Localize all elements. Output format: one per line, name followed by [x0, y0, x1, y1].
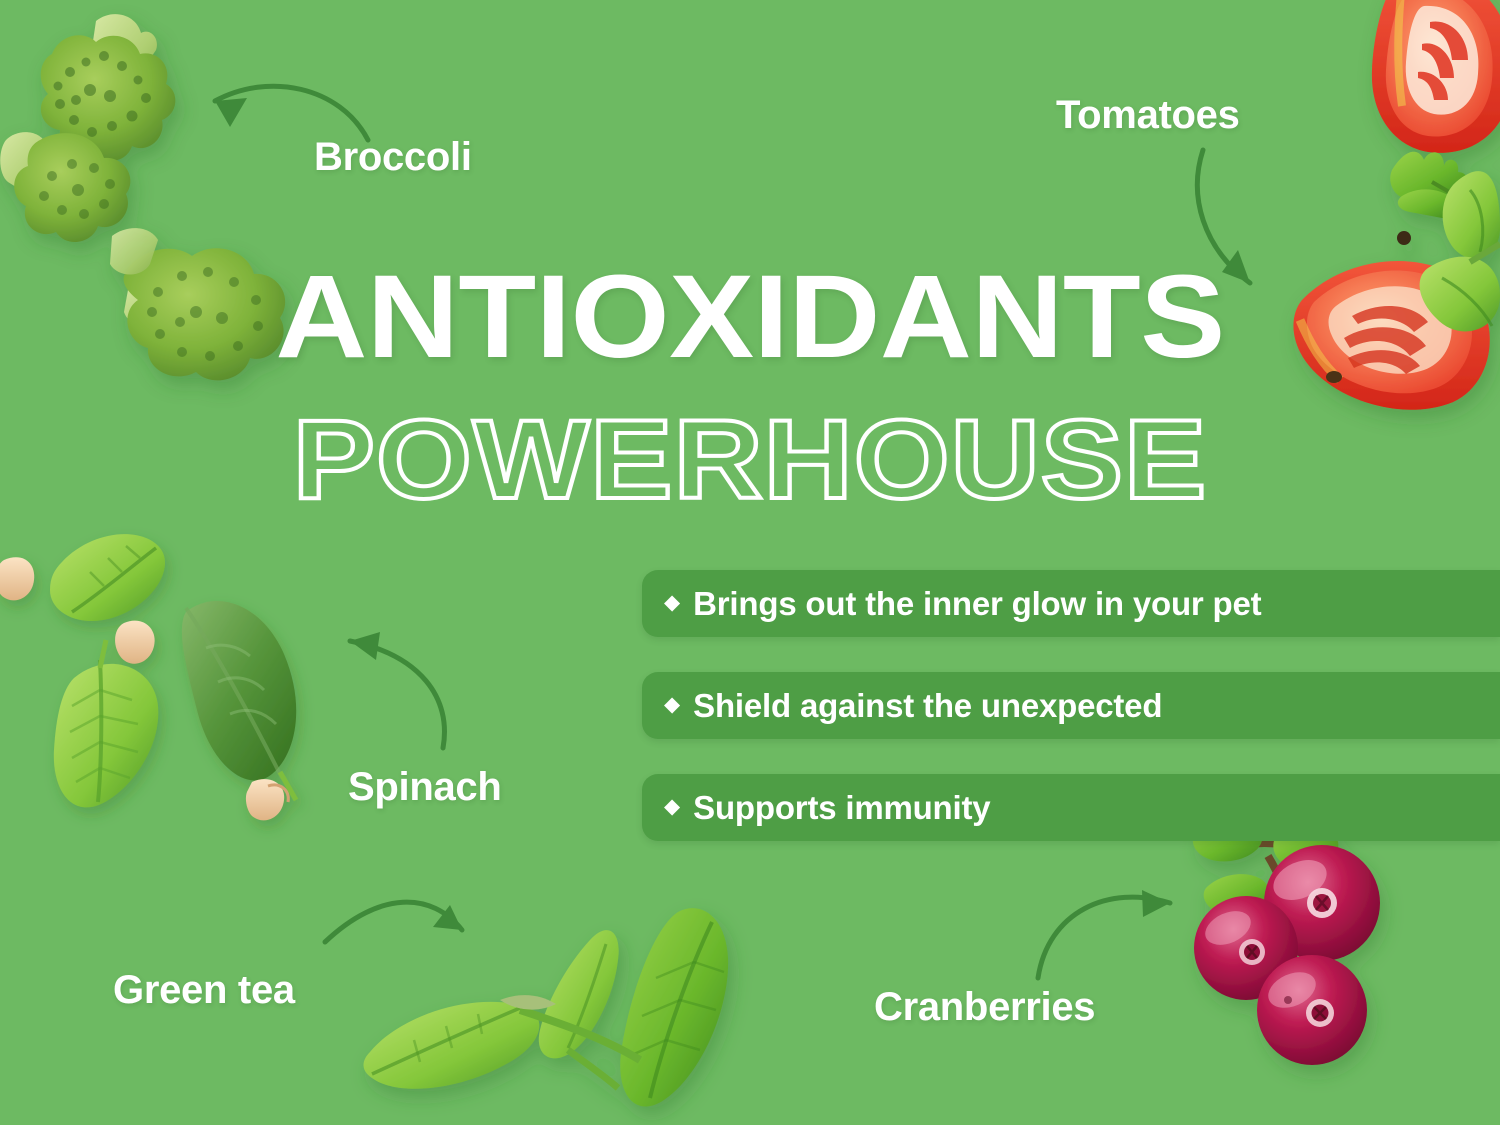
benefit-bar-3: ◆ Supports immunity	[642, 774, 1500, 841]
page-title-line1: ANTIOXIDANTS	[0, 258, 1500, 376]
benefit-bar-1: ◆ Brings out the inner glow in your pet	[642, 570, 1500, 637]
ingredient-label-tomatoes: Tomatoes	[1056, 93, 1240, 138]
diamond-bullet-icon: ◆	[664, 796, 680, 817]
broccoli-arrow-icon	[215, 86, 368, 140]
benefit-text-3: Supports immunity	[693, 789, 990, 827]
ingredient-label-broccoli: Broccoli	[314, 135, 472, 180]
benefits-list: ◆ Brings out the inner glow in your pet …	[642, 570, 1500, 841]
ingredient-label-green-tea: Green tea	[113, 968, 295, 1013]
ingredient-label-cranberries: Cranberries	[874, 985, 1095, 1030]
diamond-bullet-icon: ◆	[664, 694, 680, 715]
ingredient-label-spinach: Spinach	[348, 765, 502, 810]
benefit-text-2: Shield against the unexpected	[693, 687, 1162, 725]
spinach-basil-leaves-photo	[0, 534, 296, 820]
benefit-bar-2: ◆ Shield against the unexpected	[642, 672, 1500, 739]
spinach-arrow-icon	[350, 632, 444, 748]
diamond-bullet-icon: ◆	[664, 592, 680, 613]
cranberries-arrow-icon	[1038, 890, 1170, 978]
pointer-arrows-layer	[0, 0, 1500, 1125]
antioxidants-infographic-canvas: ANTIOXIDANTS POWERHOUSE ◆ Brings out the…	[0, 0, 1500, 1125]
page-title-line2: POWERHOUSE	[0, 404, 1500, 516]
benefit-text-1: Brings out the inner glow in your pet	[693, 585, 1261, 623]
food-photography-layer	[0, 0, 1500, 1125]
green-tea-arrow-icon	[325, 902, 462, 942]
headline-block: ANTIOXIDANTS POWERHOUSE	[0, 258, 1500, 516]
green-tea-leaves-photo	[364, 908, 729, 1106]
cranberries-photo	[1193, 817, 1380, 1065]
